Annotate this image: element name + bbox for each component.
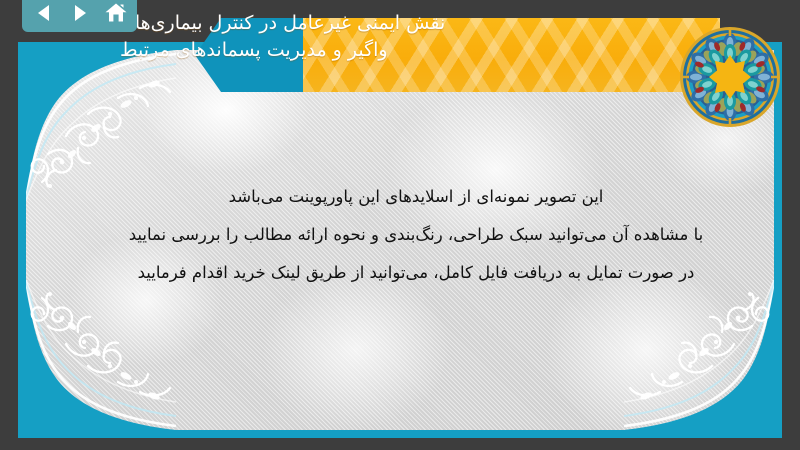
page-title-line-2: واگیر و مدیریت پسماندهای مرتبط [120, 37, 388, 64]
page-title-line-1: نقش ایمنی غیرعامل در کنترل بیماری‌های [120, 10, 445, 37]
back-triangle-icon [33, 2, 55, 24]
slide-canvas: این تصویر نمونه‌ای از اسلایدهای این پاور… [26, 50, 774, 430]
forward-triangle-icon [69, 2, 91, 24]
slide-viewer: این تصویر نمونه‌ای از اسلایدهای این پاور… [0, 0, 800, 450]
body-line-3: در صورت تمایل به دریافت فایل کامل، می‌تو… [66, 254, 766, 292]
islamic-medallion-ornament-icon [678, 25, 782, 129]
arabesque-corner-ornament-icon [26, 280, 176, 430]
home-button[interactable] [103, 0, 129, 26]
slide-body-text: این تصویر نمونه‌ای از اسلایدهای این پاور… [66, 178, 766, 292]
arabesque-corner-ornament-icon [624, 280, 774, 430]
body-line-1: این تصویر نمونه‌ای از اسلایدهای این پاور… [66, 178, 766, 216]
slide-frame: این تصویر نمونه‌ای از اسلایدهای این پاور… [18, 42, 782, 438]
page-title: نقش ایمنی غیرعامل در کنترل بیماری‌های وا… [120, 0, 650, 74]
back-button[interactable] [31, 0, 57, 26]
home-icon [104, 1, 128, 25]
body-line-2: با مشاهده آن می‌توانید سبک طراحی، رنگ‌بن… [66, 216, 766, 254]
navigation-toolbar [22, 0, 137, 32]
forward-button[interactable] [67, 0, 93, 26]
